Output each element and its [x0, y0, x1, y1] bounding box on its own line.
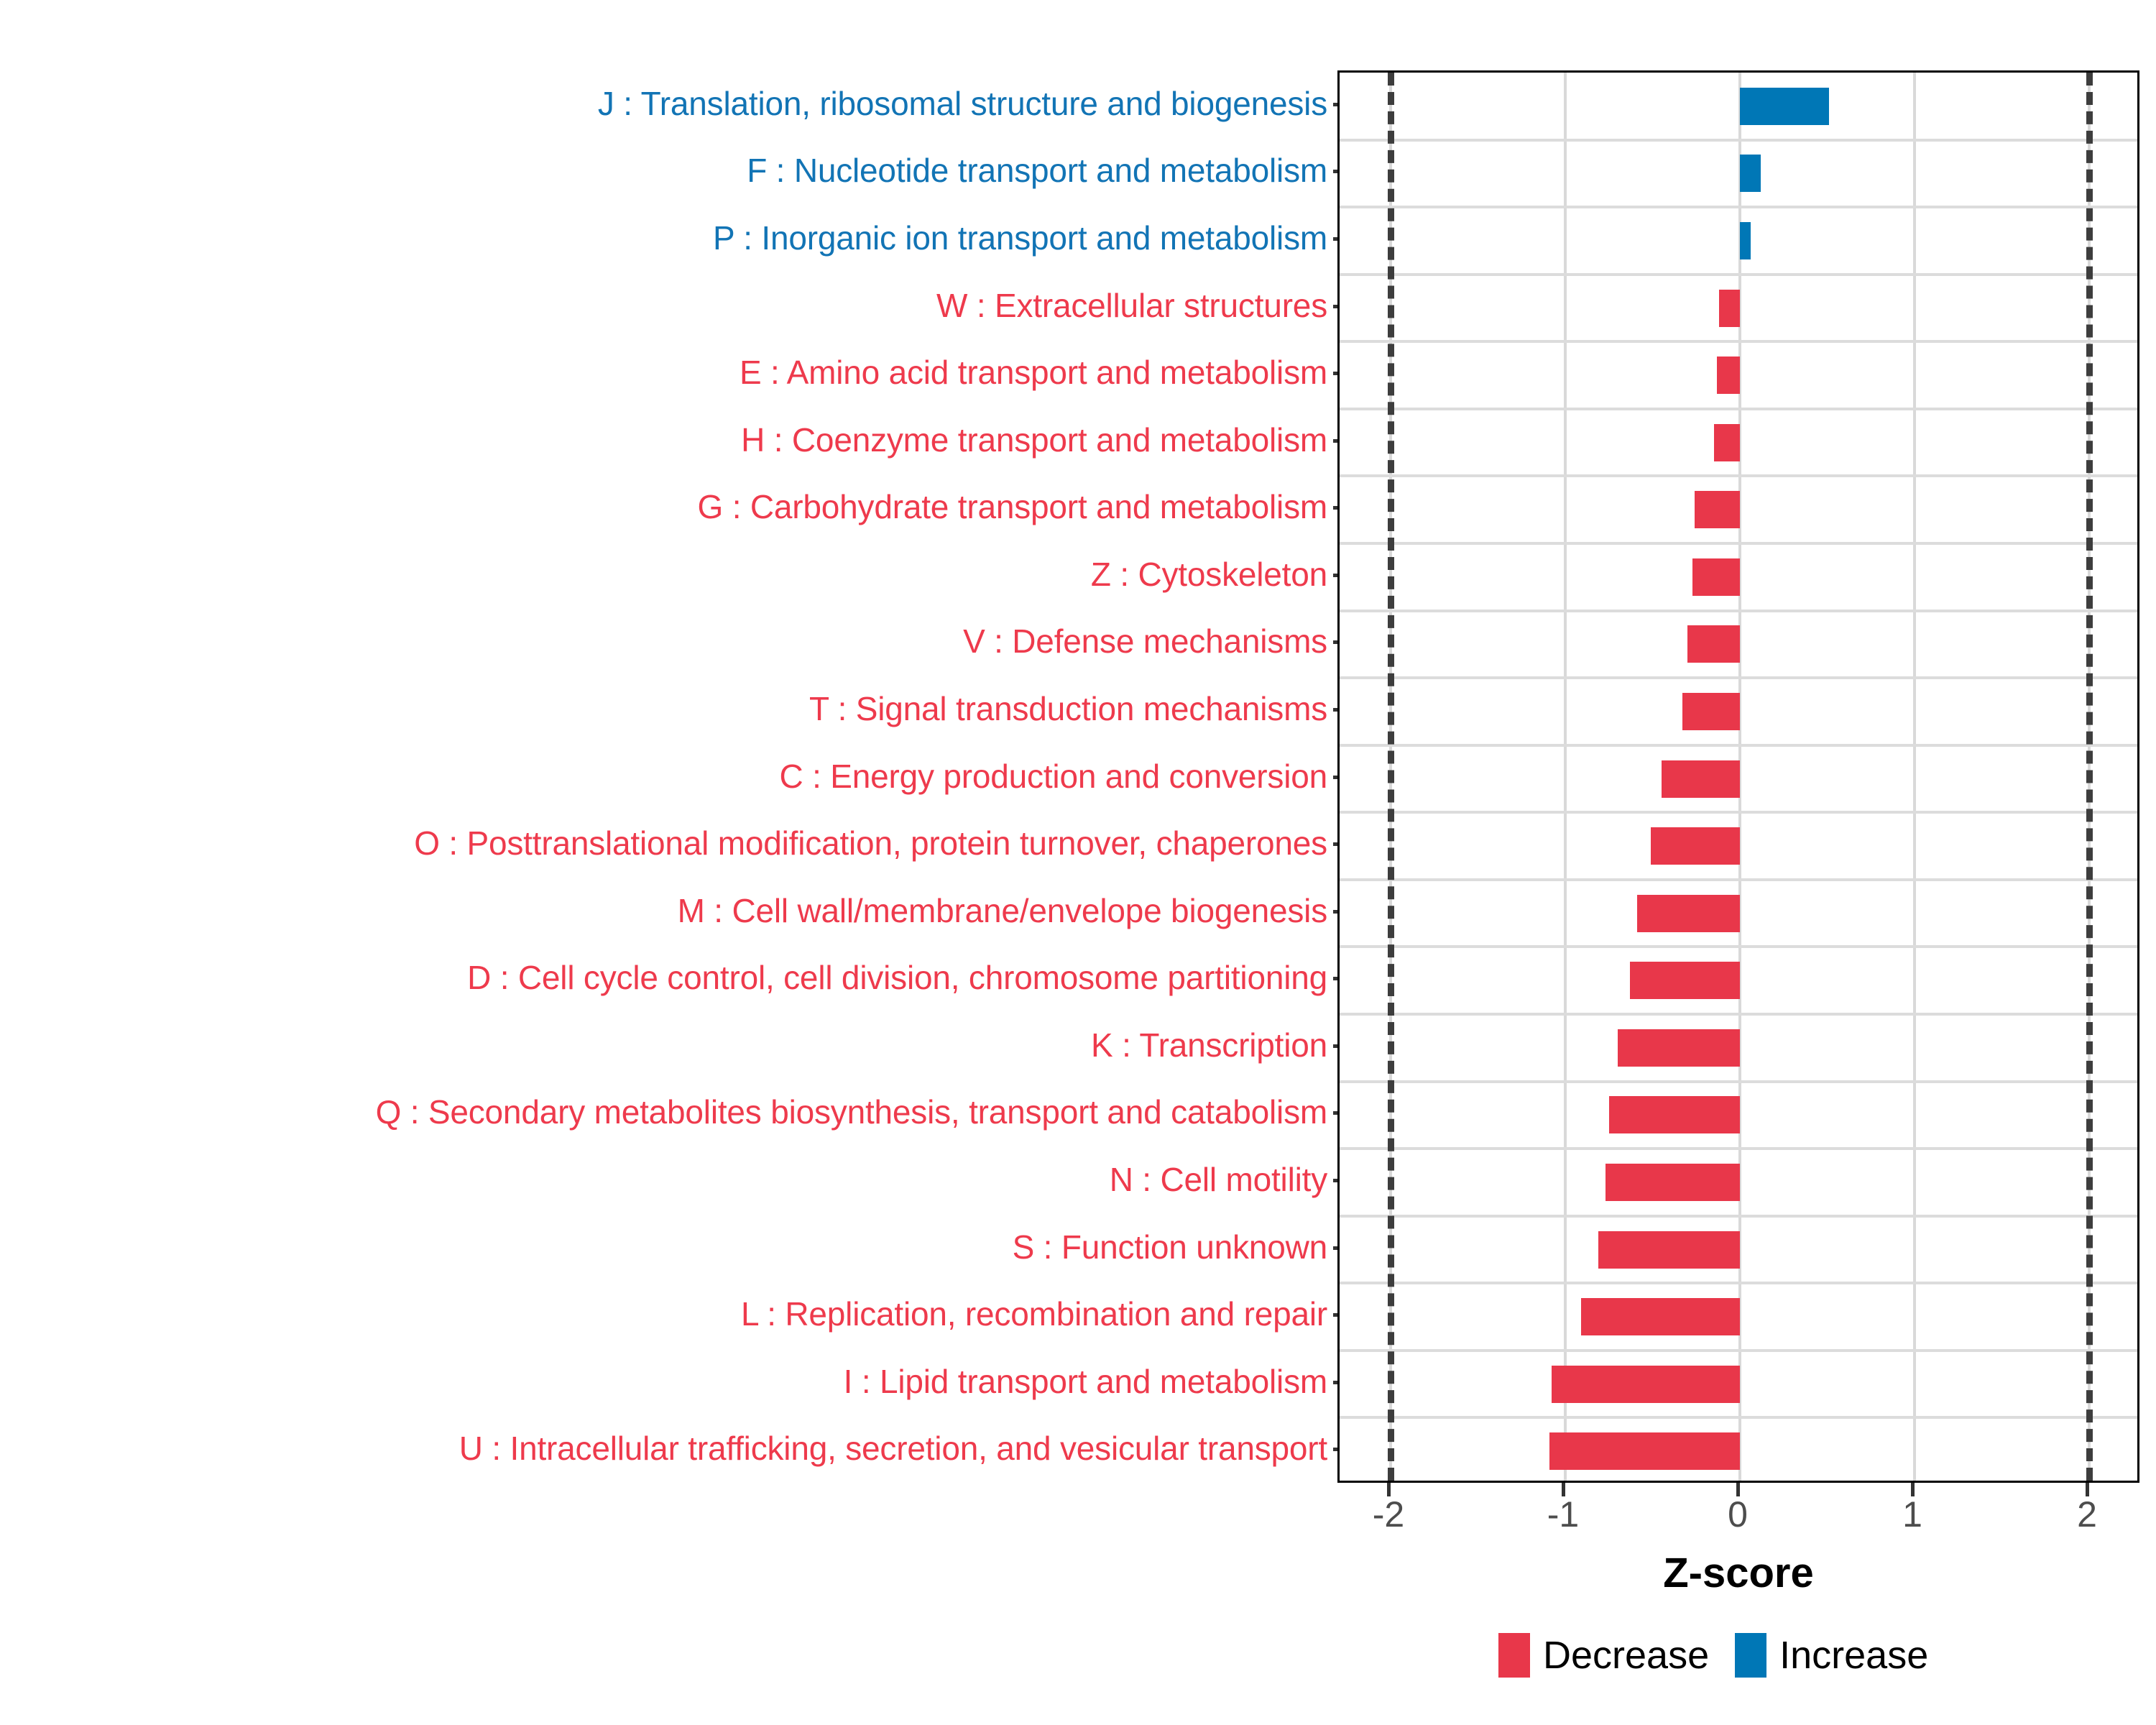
category-label: F : Nucleotide transport and metabolism [5, 154, 1327, 187]
gridline-horizontal [1340, 676, 2137, 679]
legend: DecreaseIncrease [1498, 1633, 1928, 1678]
x-tick-label: 0 [1680, 1496, 1795, 1532]
gridline-horizontal [1340, 273, 2137, 276]
bar[interactable] [1630, 962, 1740, 999]
gridline-horizontal [1340, 139, 2137, 142]
x-axis-title: Z-score [1337, 1552, 2139, 1594]
gridline-horizontal [1340, 609, 2137, 612]
gridline-horizontal [1340, 1147, 2137, 1150]
bar[interactable] [1552, 1366, 1740, 1403]
gridline-horizontal [1340, 474, 2137, 477]
bar[interactable] [1606, 1164, 1740, 1201]
x-tick-label: 2 [2030, 1496, 2145, 1532]
legend-swatch-increase [1735, 1633, 1766, 1678]
bar[interactable] [1717, 356, 1740, 394]
category-label: W : Extracellular structures [5, 289, 1327, 322]
category-label: E : Amino acid transport and metabolism [5, 356, 1327, 389]
category-label: T : Signal transduction mechanisms [5, 692, 1327, 725]
bar[interactable] [1740, 155, 1761, 192]
gridline-horizontal [1340, 340, 2137, 343]
gridline-horizontal [1340, 1416, 2137, 1419]
bar[interactable] [1714, 424, 1740, 461]
bar[interactable] [1581, 1298, 1740, 1335]
gridline-vertical [1564, 73, 1567, 1481]
bar[interactable] [1662, 760, 1740, 798]
legend-swatch-decrease [1498, 1633, 1530, 1678]
bar[interactable] [1740, 222, 1751, 259]
category-label: S : Function unknown [5, 1230, 1327, 1264]
bar[interactable] [1549, 1432, 1740, 1470]
gridline-horizontal [1340, 1215, 2137, 1218]
cog-zscore-bar-chart: J : Translation, ribosomal structure and… [0, 0, 2156, 1725]
x-tick-label: -2 [1331, 1496, 1446, 1532]
threshold-dashed-line [2086, 73, 2093, 1481]
legend-label-increase: Increase [1779, 1636, 1928, 1675]
plot-panel [1337, 70, 2139, 1483]
bar[interactable] [1609, 1096, 1740, 1133]
gridline-horizontal [1340, 1080, 2137, 1083]
gridline-horizontal [1340, 542, 2137, 545]
category-label: K : Transcription [5, 1029, 1327, 1062]
bar[interactable] [1598, 1231, 1740, 1269]
bar[interactable] [1740, 88, 1829, 125]
category-label: J : Translation, ribosomal structure and… [5, 87, 1327, 120]
gridline-horizontal [1340, 744, 2137, 747]
bar[interactable] [1695, 491, 1740, 528]
x-tick-label: 1 [1855, 1496, 1970, 1532]
gridline-horizontal [1340, 1013, 2137, 1016]
bar[interactable] [1682, 693, 1740, 730]
category-label: C : Energy production and conversion [5, 760, 1327, 793]
legend-item-decrease[interactable]: Decrease [1498, 1633, 1709, 1678]
bar[interactable] [1687, 625, 1740, 663]
gridline-horizontal [1340, 811, 2137, 814]
bar[interactable] [1692, 558, 1740, 596]
legend-label-decrease: Decrease [1543, 1636, 1709, 1675]
bar[interactable] [1719, 290, 1740, 327]
gridline-horizontal [1340, 408, 2137, 410]
category-label: P : Inorganic ion transport and metaboli… [5, 221, 1327, 254]
category-label: O : Posttranslational modification, prot… [5, 827, 1327, 860]
category-label: L : Replication, recombination and repai… [5, 1297, 1327, 1330]
category-label: Z : Cytoskeleton [5, 558, 1327, 591]
category-axis-labels: J : Translation, ribosomal structure and… [0, 70, 1333, 1483]
gridline-horizontal [1340, 206, 2137, 208]
category-label: I : Lipid transport and metabolism [5, 1365, 1327, 1398]
gridline-horizontal [1340, 945, 2137, 948]
gridline-horizontal [1340, 878, 2137, 881]
x-tick-label: -1 [1506, 1496, 1621, 1532]
bar[interactable] [1651, 827, 1740, 865]
category-label: M : Cell wall/membrane/envelope biogenes… [5, 894, 1327, 927]
category-label: H : Coenzyme transport and metabolism [5, 423, 1327, 456]
legend-item-increase[interactable]: Increase [1735, 1633, 1928, 1678]
category-label: G : Carbohydrate transport and metabolis… [5, 490, 1327, 523]
category-label: V : Defense mechanisms [5, 625, 1327, 658]
gridline-horizontal [1340, 1349, 2137, 1352]
category-label: Q : Secondary metabolites biosynthesis, … [5, 1095, 1327, 1128]
gridline-vertical [1913, 73, 1916, 1481]
category-label: N : Cell motility [5, 1163, 1327, 1196]
gridline-horizontal [1340, 1282, 2137, 1284]
bar[interactable] [1618, 1029, 1740, 1067]
threshold-dashed-line [1388, 73, 1394, 1481]
category-label: D : Cell cycle control, cell division, c… [5, 961, 1327, 994]
category-label: U : Intracellular trafficking, secretion… [5, 1432, 1327, 1465]
bar[interactable] [1637, 895, 1740, 932]
